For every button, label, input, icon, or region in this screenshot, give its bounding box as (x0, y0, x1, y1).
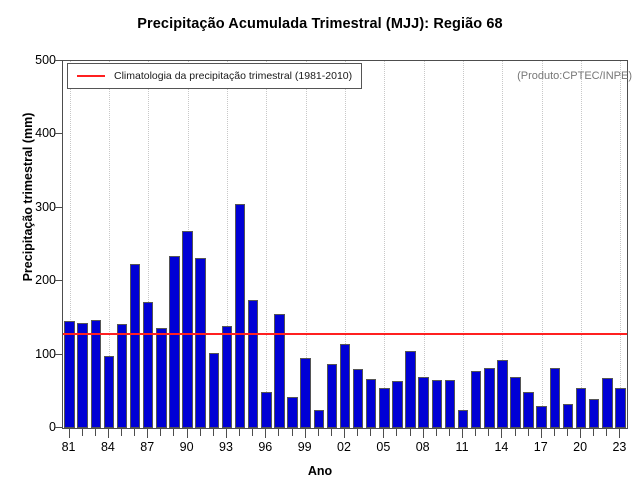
bar (209, 353, 219, 428)
bar (300, 358, 310, 428)
chart-container: Precipitação Acumulada Trimestral (MJJ):… (0, 0, 640, 500)
bar (91, 320, 101, 428)
bar (405, 351, 415, 428)
x-axis-tick-mark (475, 429, 476, 436)
bar (458, 410, 468, 428)
x-axis-tick-mark (226, 429, 227, 438)
x-axis-tick-mark (239, 429, 240, 436)
bar (353, 369, 363, 428)
bar (235, 204, 245, 428)
gridline-vertical (620, 61, 621, 428)
x-axis-tick-mark (462, 429, 463, 438)
x-axis-tick-mark (134, 429, 135, 436)
gridline-vertical (384, 61, 385, 428)
x-axis-tick-mark (213, 429, 214, 436)
y-axis-tick-mark (55, 207, 62, 208)
bar (615, 388, 625, 428)
x-axis-tick-mark (396, 429, 397, 436)
y-axis-tick-mark (55, 280, 62, 281)
x-axis-tick-mark (449, 429, 450, 436)
x-axis-tick-mark (82, 429, 83, 436)
x-axis-tick-mark (331, 429, 332, 436)
bar (261, 392, 271, 428)
x-axis-tick-mark (593, 429, 594, 436)
x-axis-tick-mark (580, 429, 581, 438)
x-axis-tick-mark (606, 429, 607, 436)
y-axis-tick-mark (55, 60, 62, 61)
bar (445, 380, 455, 428)
x-axis-tick-mark (567, 429, 568, 436)
bar (169, 256, 179, 428)
x-axis-tick-label: 87 (140, 440, 154, 454)
bar (156, 328, 166, 428)
bar (392, 381, 402, 428)
bar (432, 380, 442, 428)
bar (589, 399, 599, 428)
bar (130, 264, 140, 428)
x-axis-tick-label: 99 (298, 440, 312, 454)
bar (340, 344, 350, 428)
bar (366, 379, 376, 428)
y-axis-tick-label: 500 (10, 53, 56, 67)
x-axis-tick-mark (318, 429, 319, 436)
bar (576, 388, 586, 428)
gridline-vertical (581, 61, 582, 428)
chart-title: Precipitação Acumulada Trimestral (MJJ):… (0, 16, 640, 32)
x-axis-tick-mark (423, 429, 424, 438)
x-axis-tick-mark (410, 429, 411, 436)
bar (379, 388, 389, 428)
bar (563, 404, 573, 428)
gridline-vertical (463, 61, 464, 428)
x-axis-tick-mark (554, 429, 555, 436)
x-axis-title: Ano (0, 464, 640, 478)
x-axis-tick-mark (108, 429, 109, 438)
x-axis-tick-label: 93 (219, 440, 233, 454)
y-axis-tick-mark (55, 427, 62, 428)
bar (248, 300, 258, 428)
x-axis-tick-label: 17 (534, 440, 548, 454)
y-axis-tick-label: 100 (10, 347, 56, 361)
bar (327, 364, 337, 428)
legend-line-swatch (77, 75, 105, 77)
bar (550, 368, 560, 428)
x-axis-tick-mark (488, 429, 489, 436)
x-axis-tick-mark (187, 429, 188, 438)
x-axis-tick-mark (252, 429, 253, 436)
x-axis-tick-label: 81 (62, 440, 76, 454)
x-axis-tick-mark (515, 429, 516, 436)
x-axis-tick-mark (160, 429, 161, 436)
x-axis-tick-label: 84 (101, 440, 115, 454)
x-axis-tick-label: 02 (337, 440, 351, 454)
bar (314, 410, 324, 428)
gridline-vertical (424, 61, 425, 428)
y-axis-title: Precipitação trimestral (mm) (21, 72, 35, 322)
y-axis-tick-label: 0 (10, 420, 56, 434)
bar (510, 377, 520, 428)
x-axis-tick-label: 14 (494, 440, 508, 454)
x-axis-tick-mark (69, 429, 70, 438)
y-axis-tick-mark (55, 354, 62, 355)
x-axis-tick-mark (528, 429, 529, 436)
bar (471, 371, 481, 428)
x-axis-tick-mark (305, 429, 306, 438)
x-axis-tick-mark (265, 429, 266, 438)
x-axis-tick-label: 08 (416, 440, 430, 454)
x-axis-tick-mark (278, 429, 279, 436)
x-axis-tick-mark (357, 429, 358, 436)
bar (222, 326, 232, 428)
bar (536, 406, 546, 428)
bar (287, 397, 297, 428)
climatology-reference-line (63, 333, 627, 335)
gridline-vertical (542, 61, 543, 428)
bar (117, 324, 127, 428)
plot-area (62, 60, 628, 429)
bar (64, 321, 74, 428)
legend-label-climatologia: Climatologia da precipitação trimestral … (114, 70, 352, 82)
x-axis-tick-mark (501, 429, 502, 438)
x-axis-tick-mark (95, 429, 96, 436)
x-axis-tick-label: 05 (376, 440, 390, 454)
x-axis-tick-mark (383, 429, 384, 438)
bar (182, 231, 192, 428)
bar (77, 323, 87, 428)
bar (418, 377, 428, 428)
x-axis-tick-label: 90 (180, 440, 194, 454)
x-axis-tick-mark (147, 429, 148, 438)
chart-legend: Climatologia da precipitação trimestral … (67, 63, 362, 89)
x-axis-tick-label: 23 (612, 440, 626, 454)
source-note: (Produto:CPTEC/INPE) (517, 70, 632, 82)
x-axis-tick-mark (436, 429, 437, 436)
x-axis-tick-mark (173, 429, 174, 436)
bar (484, 368, 494, 428)
bar (523, 392, 533, 428)
bar (195, 258, 205, 428)
gridline-vertical (266, 61, 267, 428)
bar (104, 356, 114, 428)
bar (497, 360, 507, 428)
x-axis-tick-label: 11 (456, 440, 469, 454)
x-axis-tick-mark (292, 429, 293, 436)
bar (274, 314, 284, 428)
x-axis-tick-label: 96 (258, 440, 272, 454)
x-axis-tick-mark (541, 429, 542, 438)
x-axis-tick-mark (619, 429, 620, 438)
x-axis-tick-mark (200, 429, 201, 436)
x-axis-tick-mark (344, 429, 345, 438)
x-axis-tick-mark (370, 429, 371, 436)
bar (143, 302, 153, 428)
bar (602, 378, 612, 428)
x-axis-tick-mark (121, 429, 122, 436)
x-axis-tick-label: 20 (573, 440, 587, 454)
y-axis-tick-mark (55, 133, 62, 134)
